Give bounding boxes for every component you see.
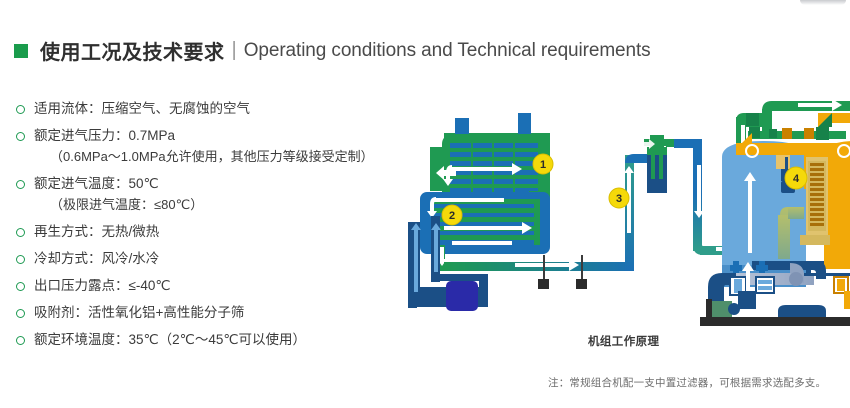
callout-1[interactable]: 1 [533, 154, 553, 174]
specifications-list: 适用流体：压缩空气、无腐蚀的空气 额定进气压力：0.7MPa （0.6MPa～1… [16, 100, 406, 358]
twin-adsorption-towers [700, 99, 850, 326]
list-item: 额定进气温度：50℃ （极限进气温度：≤80℃） [16, 175, 406, 214]
spec-sublabel: （极限进气温度：≤80℃） [50, 195, 203, 214]
svg-text:3: 3 [616, 193, 622, 205]
heater-element [808, 161, 826, 231]
circle-bullet-icon [16, 132, 25, 141]
header-title-en: Operating conditions and Technical requi… [244, 40, 651, 62]
circle-bullet-icon [16, 282, 25, 291]
callout-4[interactable]: 4 [785, 167, 807, 189]
svg-text:2: 2 [449, 210, 455, 222]
spec-label: 额定进气温度：50℃ [34, 175, 203, 193]
circle-bullet-icon [16, 180, 25, 189]
list-item: 冷却方式：风冷/水冷 [16, 250, 406, 268]
spec-label: 出口压力露点：≤-40℃ [34, 277, 171, 295]
header-square-icon [14, 44, 28, 58]
chiller-box [446, 281, 478, 311]
list-item: 吸附剂：活性氧化铝+高性能分子筛 [16, 304, 406, 322]
spec-label: 额定进气压力：0.7MPa [34, 127, 374, 145]
list-item: 额定进气压力：0.7MPa （0.6MPa～1.0MPa允许使用，其他压力等级接… [16, 127, 406, 166]
callout-2[interactable]: 2 [442, 205, 462, 225]
svg-text:4: 4 [793, 173, 800, 185]
spec-label: 吸附剂：活性氧化铝+高性能分子筛 [34, 304, 244, 322]
valve-block [746, 113, 759, 126]
header-title-cn: 使用工况及技术要求 [40, 36, 225, 65]
header-divider: | [232, 39, 237, 62]
spec-label: 再生方式：无热/微热 [34, 223, 159, 241]
callout-3[interactable]: 3 [609, 188, 629, 208]
spec-sublabel: （0.6MPa～1.0MPa允许使用，其他压力等级接受定制） [50, 147, 374, 166]
mid-filter [641, 135, 674, 193]
circle-bullet-icon [16, 336, 25, 345]
spec-label: 额定环境温度：35℃（2℃～45℃可以使用） [34, 331, 306, 349]
circle-bullet-icon [16, 105, 25, 114]
list-item: 适用流体：压缩空气、无腐蚀的空气 [16, 100, 406, 118]
list-item: 出口压力露点：≤-40℃ [16, 277, 406, 295]
diagram-svg: 1 2 3 4 [400, 95, 850, 340]
corner-artifact [800, 0, 846, 5]
page-title: 使用工况及技术要求 | Operating conditions and Tec… [14, 36, 651, 65]
spec-label: 冷却方式：风冷/水冷 [34, 250, 159, 268]
circle-bullet-icon [16, 228, 25, 237]
spec-label: 适用流体：压缩空气、无腐蚀的空气 [34, 100, 250, 118]
svg-text:1: 1 [540, 159, 546, 171]
list-item: 再生方式：无热/微热 [16, 223, 406, 241]
diagram-caption: 机组工作原理 [588, 333, 659, 349]
diagram-note: 注：常规组合机配一支中置过滤器，可根据需求选配多支。 [548, 375, 826, 390]
circle-bullet-icon [16, 255, 25, 264]
working-principle-diagram: 1 2 3 4 [400, 95, 850, 340]
circle-bullet-icon [16, 309, 25, 318]
valve-block [816, 127, 829, 140]
list-item: 额定环境温度：35℃（2℃～45℃可以使用） [16, 331, 406, 349]
